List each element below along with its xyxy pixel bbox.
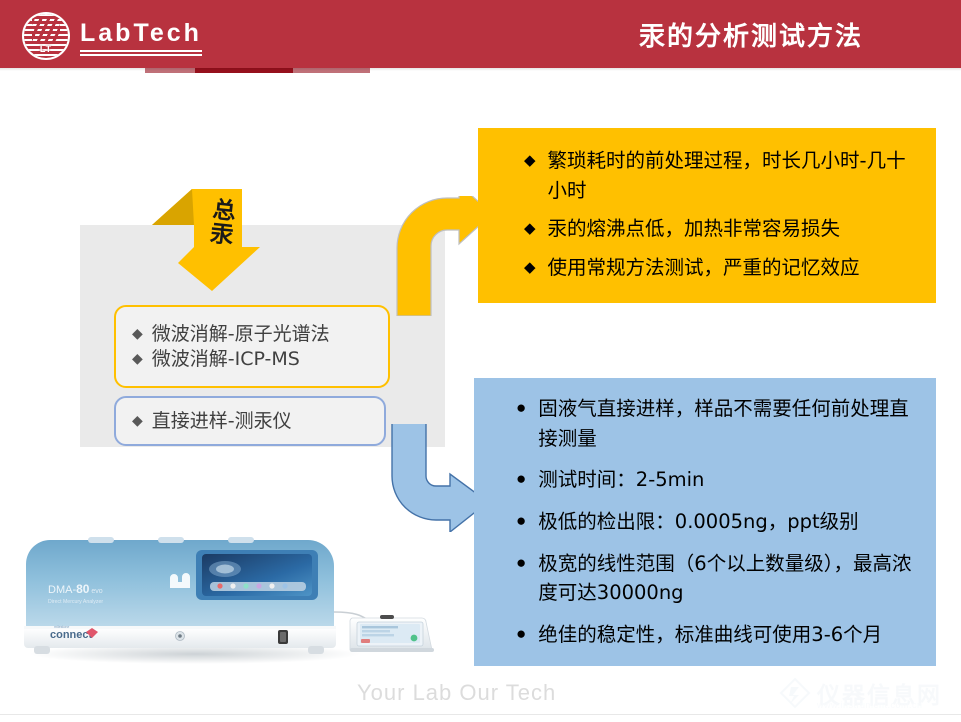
logo-initials: LT <box>24 44 68 54</box>
dot-bullet-icon: ● <box>516 620 526 647</box>
diamond-bullet-icon: ◆ <box>524 146 536 172</box>
advantage-text: 极低的检出限：0.0005ng，ppt级别 <box>538 507 858 537</box>
footer-tagline: Your Lab Our Tech <box>357 680 556 706</box>
method-item: ◆ 微波消解-ICP-MS <box>132 347 388 371</box>
drawback-item: ◆ 使用常规方法测试，严重的记忆效应 <box>524 253 922 283</box>
method-item: ◆ 微波消解-原子光谱法 <box>132 322 388 346</box>
advantage-item: ● 测试时间：2-5min <box>516 465 922 495</box>
slide-canvas: LT LabTech 汞的分析测试方法 总汞 ◆ 微波消解-原子光谱法 ◆ 微波… <box>0 0 961 722</box>
advantages-panel: ● 固液气直接进样，样品不需要任何前处理直接测量 ● 测试时间：2-5min ●… <box>474 378 936 666</box>
svg-text:connect: connect <box>50 629 93 641</box>
site-watermark: 仪器信息网 www.instrument.com.cn <box>775 676 955 718</box>
total-mercury-arrow: 总汞 <box>150 185 262 293</box>
instrument-photo-dma80: DMA-80 evo Direct Mercury Analyzer miles… <box>20 520 440 670</box>
diamond-bullet-icon: ◆ <box>132 327 143 341</box>
brand-logo: LT LabTech <box>22 12 202 60</box>
watermark-url: www.instrument.com.cn <box>817 700 923 710</box>
logo-slash <box>32 18 60 42</box>
drawback-item: ◆ 汞的熔沸点低，加热非常容易损失 <box>524 214 922 244</box>
direct-method-box[interactable]: ◆ 直接进样-测汞仪 <box>114 396 386 446</box>
total-mercury-label: 总汞 <box>204 197 243 249</box>
header-shadow <box>0 68 961 71</box>
page-title: 汞的分析测试方法 <box>541 0 961 68</box>
advantage-text: 测试时间：2-5min <box>538 465 704 495</box>
drawback-text: 汞的熔沸点低，加热非常容易损失 <box>548 214 841 244</box>
drawback-item: ◆ 繁琐耗时的前处理过程，时长几小时-几十小时 <box>524 146 922 205</box>
traditional-methods-box[interactable]: ◆ 微波消解-原子光谱法 ◆ 微波消解-ICP-MS <box>114 305 390 388</box>
method-label: 微波消解-原子光谱法 <box>152 322 330 346</box>
dot-bullet-icon: ● <box>516 394 526 421</box>
labtech-logo-icon: LT <box>22 12 70 60</box>
advantage-text: 极宽的线性范围（6个以上数量级），最高浓度可达30000ng <box>538 549 922 608</box>
advantage-item: ● 固液气直接进样，样品不需要任何前处理直接测量 <box>516 394 922 453</box>
method-label: 直接进样-测汞仪 <box>152 409 292 433</box>
brand-name: LabTech <box>80 21 202 52</box>
dot-bullet-icon: ● <box>516 507 526 534</box>
advantage-text: 绝佳的稳定性，标准曲线可使用3-6个月 <box>538 620 882 650</box>
method-label: 微波消解-ICP-MS <box>152 347 300 371</box>
diamond-bullet-icon: ◆ <box>524 214 536 240</box>
advantage-text: 固液气直接进样，样品不需要任何前处理直接测量 <box>538 394 922 453</box>
diamond-bullet-icon: ◆ <box>132 414 143 428</box>
advantage-item: ● 极低的检出限：0.0005ng，ppt级别 <box>516 507 922 537</box>
advantage-item: ● 极宽的线性范围（6个以上数量级），最高浓度可达30000ng <box>516 549 922 608</box>
advantage-item: ● 绝佳的稳定性，标准曲线可使用3-6个月 <box>516 620 922 650</box>
dot-bullet-icon: ● <box>516 465 526 492</box>
svg-text:Direct Mercury Analyzer: Direct Mercury Analyzer <box>48 599 103 605</box>
drawback-text: 繁琐耗时的前处理过程，时长几小时-几十小时 <box>548 146 922 205</box>
method-item: ◆ 直接进样-测汞仪 <box>132 409 384 433</box>
diamond-bullet-icon: ◆ <box>524 253 536 279</box>
drawbacks-panel: ◆ 繁琐耗时的前处理过程，时长几小时-几十小时 ◆ 汞的熔沸点低，加热非常容易损… <box>478 128 936 303</box>
dot-bullet-icon: ● <box>516 549 526 576</box>
diamond-bullet-icon: ◆ <box>132 352 143 366</box>
drawback-text: 使用常规方法测试，严重的记忆效应 <box>548 253 860 283</box>
